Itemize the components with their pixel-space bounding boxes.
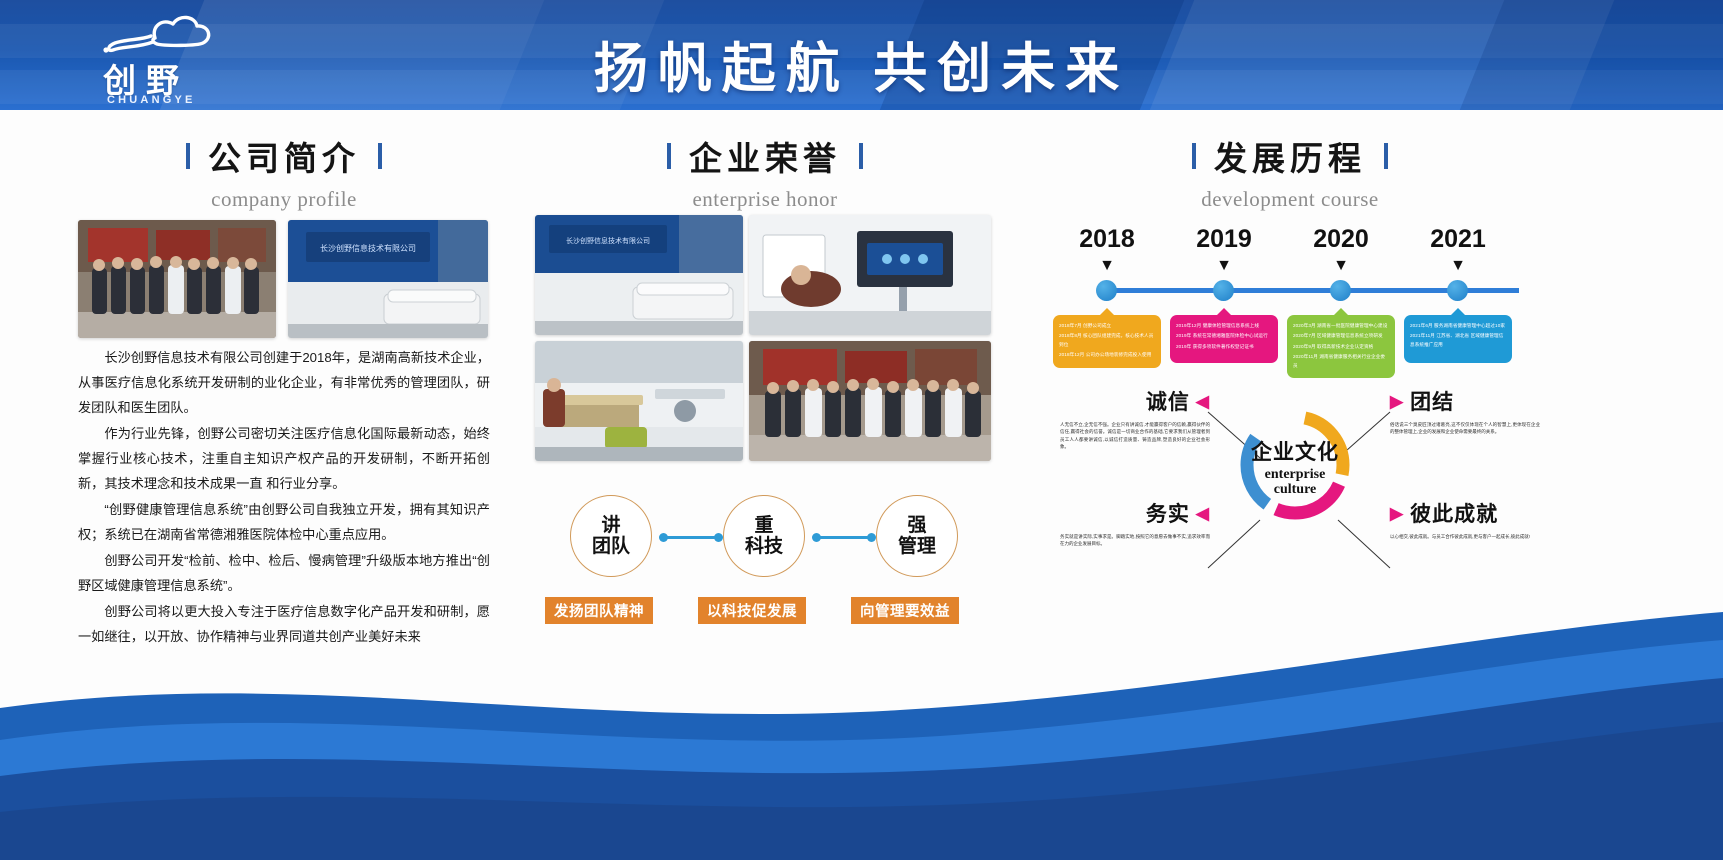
team-group-photo [78, 220, 276, 338]
value-description: 务实就是讲实际,实事求是。脚踏实地,按照它的意愿去做事不实,追求效率而在力的企业… [1060, 533, 1210, 548]
profile-paragraph: “创野健康管理信息系统”由创野公司自我独立开发，拥有其知识产权；系统已在湖南省常… [78, 497, 490, 547]
value-title-row: 务实 ◀ [1060, 498, 1210, 528]
tick-mark [859, 143, 863, 169]
value-circle: 讲 团队 [570, 495, 652, 577]
culture-center-label: 企业文化 enterprise culture [1235, 436, 1355, 497]
value-tag: 向管理要效益 [851, 597, 959, 624]
milestone-line: 2020年3月 湖南省一批医院健康管理中心建设 [1293, 322, 1389, 330]
timeline-year: 2019 [1179, 225, 1269, 254]
culture-value-pragmatism: 务实 ◀ 务实就是讲实际,实事求是。脚踏实地,按照它的意愿去做事不实,追求效率而… [1060, 498, 1210, 548]
caret-down-icon: ▼ [1413, 258, 1503, 274]
poster-body: 公司简介 company profile [0, 110, 1723, 860]
value-tag: 以科技促发展 [698, 597, 806, 624]
header-banner: 创野 CHUANGYE 扬帆起航 共创未来 [0, 0, 1723, 110]
profile-paragraph: 长沙创野信息技术有限公司创建于2018年，是湖南高新技术企业，从事医疗信息化系统… [78, 345, 490, 420]
timeline-dot [1213, 280, 1234, 301]
arrow-right-icon: ▶ [1390, 393, 1404, 410]
profile-paragraph: 作为行业先锋，创野公司密切关注医疗信息化国际最新动态，始终掌握行业核心技术，注重… [78, 421, 490, 496]
section-title-en: enterprise honor [535, 187, 995, 212]
value-description: 人无信不立,企无信不强。企业只有讲诚信,才能赢得客户的信赖,赢得伙伴的信任,赢得… [1060, 421, 1210, 451]
office-lobby-photo: 长沙创野信息技术有限公司 [535, 215, 743, 335]
section-title-en: company profile [78, 187, 490, 212]
circle-line-1: 强 [907, 515, 926, 536]
section-header-profile: 公司简介 company profile [78, 132, 490, 212]
milestone-line: 2018年8月 核心团队组建完成，核心技术人员到位 [1059, 332, 1155, 349]
value-tag-group: 发扬团队精神 以科技促发展 向管理要效益 [560, 597, 980, 625]
culture-value-integrity: 诚信 ◀ 人无信不立,企无信不强。企业只有讲诚信,才能赢得客户的信赖,赢得伙伴的… [1060, 386, 1210, 451]
value-title: 团结 [1410, 386, 1454, 416]
tick-mark [378, 143, 382, 169]
value-description: 俗话说三个臭皮匠顶过诸葛亮,这不仅仅体现在个人的智慧上,更体现在企业的整体管理上… [1390, 421, 1540, 436]
value-tag: 发扬团队精神 [545, 597, 653, 624]
timeline-dot [1330, 280, 1351, 301]
timeline-milestone-box: 2019年12月 健康体检管理信息系统上线 2019年 系统在常德湘雅医院体检中… [1170, 315, 1278, 363]
circle-line-2: 科技 [745, 536, 783, 557]
timeline-year: 2018 [1062, 225, 1152, 254]
milestone-line: 2018年12月 公司办公场地装修完成投入使用 [1059, 351, 1155, 359]
milestone-line: 2018年7月 创野公司成立 [1059, 322, 1155, 330]
tick-mark [1384, 143, 1388, 169]
section-title-cn: 企业荣誉 [535, 132, 995, 180]
timeline-dot [1096, 280, 1117, 301]
arrow-left-icon: ◀ [1196, 393, 1210, 410]
workspace-photo [535, 341, 743, 461]
value-circle: 强 管理 [876, 495, 958, 577]
timeline-year: 2021 [1413, 225, 1503, 254]
timeline-dot [1447, 280, 1468, 301]
arrow-right-icon: ▶ [1390, 505, 1404, 522]
value-title-row: 诚信 ◀ [1060, 386, 1210, 416]
culture-value-mutual-achievement: ▶ 彼此成就 以心相交,彼此成就。与员工合作彼此成就,更与客户一起成长,彼此成就… [1390, 498, 1540, 540]
caret-down-icon: ▼ [1296, 258, 1386, 274]
milestone-line: 2019年 系统在常德湘雅医院体检中心试运行 [1176, 332, 1272, 340]
value-title-row: ▶ 彼此成就 [1390, 498, 1540, 528]
section-title-en: development course [1050, 187, 1530, 212]
circle-line-2: 管理 [898, 536, 936, 557]
section-title-cn: 发展历程 [1050, 132, 1530, 180]
timeline-year: 2020 [1296, 225, 1386, 254]
circle-line-2: 团队 [592, 536, 630, 557]
banner-title: 扬帆起航 共创未来 [0, 24, 1723, 103]
value-title-row: ▶ 团结 [1390, 386, 1540, 416]
timeline-milestone-box: 2020年3月 湖南省一批医院健康管理中心建设 2020年7月 区域健康管理信息… [1287, 315, 1395, 378]
circle-line-1: 重 [754, 515, 773, 536]
milestone-line: 2020年11月 湖南省健康服务相关行业企业委员 [1293, 353, 1389, 370]
culture-center-cn: 企业文化 [1235, 436, 1355, 466]
value-description: 以心相交,彼此成就。与员工合作彼此成就,更与客户一起成长,彼此成就! [1390, 533, 1540, 540]
section-header-course: 发展历程 development course [1050, 132, 1530, 212]
milestone-line: 2019年12月 健康体检管理信息系统上线 [1176, 322, 1272, 330]
tick-mark [1192, 143, 1196, 169]
milestone-line: 2019年 获得多项软件著作权登记证书 [1176, 343, 1272, 351]
profile-body-text: 长沙创野信息技术有限公司创建于2018年，是湖南高新技术企业，从事医疗信息化系统… [78, 345, 490, 650]
milestone-line: 2021年11月 江苏省、湖北省 区域健康管理信息系统推广应用 [1410, 332, 1506, 349]
svg-text:长沙创野信息技术有限公司: 长沙创野信息技术有限公司 [566, 236, 650, 245]
culture-center-en-2: culture [1235, 483, 1355, 498]
development-timeline: 2018 ▼ 2018年7月 创野公司成立 2018年8月 核心团队组建完成，核… [1055, 225, 1535, 385]
caret-down-icon: ▼ [1179, 258, 1269, 274]
profile-paragraph: 创野公司开发“检前、检中、检后、慢病管理”升级版本地方推出“创野区域健康管理信息… [78, 548, 490, 598]
section-title-cn: 公司简介 [78, 132, 490, 180]
culture-diagram: 企业文化 enterprise culture 诚信 ◀ 人无信不立,企无信不强… [1060, 380, 1530, 600]
tick-mark [186, 143, 190, 169]
profile-photo-group: 长沙创野信息技术有限公司 [78, 220, 488, 338]
circle-line-1: 讲 [601, 515, 620, 536]
culture-value-unity: ▶ 团结 俗话说三个臭皮匠顶过诸葛亮,这不仅仅体现在个人的智慧上,更体现在企业的… [1390, 386, 1540, 436]
milestone-line: 2020年7月 区域健康管理信息系统立项研发 [1293, 332, 1389, 340]
svg-text:长沙创野信息技术有限公司: 长沙创野信息技术有限公司 [320, 243, 416, 253]
timeline-milestone-box: 2021年6月 服务湖南省健康管理中心超过10家 2021年11月 江苏省、湖北… [1404, 315, 1512, 363]
value-title: 彼此成就 [1410, 498, 1498, 528]
section-header-honor: 企业荣誉 enterprise honor [535, 132, 995, 212]
circle-connector [663, 536, 719, 539]
value-title: 务实 [1146, 498, 1190, 528]
value-circle-group: 讲 团队 重 科技 强 管理 [560, 490, 980, 585]
value-title: 诚信 [1146, 386, 1190, 416]
timeline-milestone-box: 2018年7月 创野公司成立 2018年8月 核心团队组建完成，核心技术人员到位… [1053, 315, 1161, 368]
circle-connector [816, 536, 872, 539]
profile-paragraph: 创野公司将以更大投入专注于医疗信息数字化产品开发和研制，愿一如继往，以开放、协作… [78, 599, 490, 649]
tick-mark [667, 143, 671, 169]
value-circle: 重 科技 [723, 495, 805, 577]
office-reception-photo: 长沙创野信息技术有限公司 [288, 220, 488, 338]
group-award-photo [749, 341, 991, 461]
milestone-line: 2020年9月 取得高新技术企业认定资格 [1293, 343, 1389, 351]
milestone-line: 2021年6月 服务湖南省健康管理中心超过10家 [1410, 322, 1506, 330]
culture-center-en-1: enterprise [1235, 468, 1355, 483]
presentation-photo [749, 215, 991, 335]
arrow-left-icon: ◀ [1196, 505, 1210, 522]
caret-down-icon: ▼ [1062, 258, 1152, 274]
honor-photo-grid: 长沙创野信息技术有限公司 [535, 215, 991, 461]
